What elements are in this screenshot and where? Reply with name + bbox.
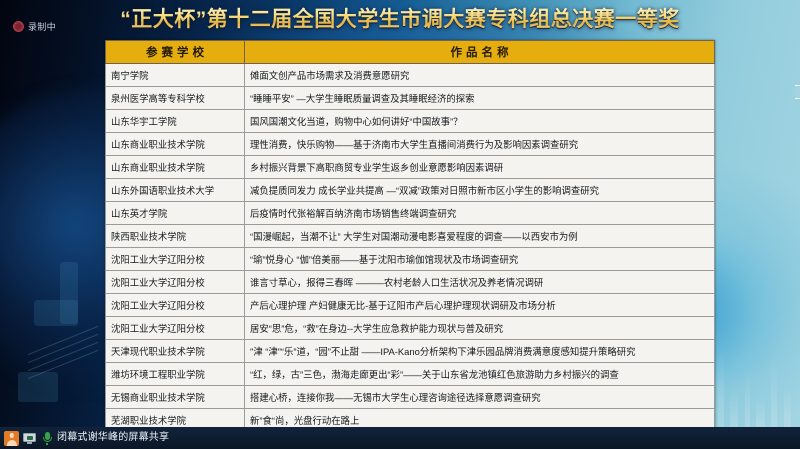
cell-school: 泉州医学高等专科学校 [106,87,245,110]
table-row: 泉州医学高等专科学校“睡睡平安” —大学生睡眠质量调查及其睡眠经济的探索 [106,87,715,110]
table-row: 沈阳工业大学辽阳分校居安“思”危，“救”在身边--大学生应急救护能力现状与普及研… [106,317,715,340]
cell-school: 山东外国语职业技术大学 [106,179,245,202]
column-header-work: 作品名称 [245,41,715,64]
cell-work: 搭建心桥，连接你我——无锡市大学生心理咨询途径选择意愿调查研究 [245,386,715,409]
recording-label: 录制中 [28,22,56,32]
cell-work: “睡睡平安” —大学生睡眠质量调查及其睡眠经济的探索 [245,87,715,110]
cell-work: “瑜”悦身心 “伽”倍美丽——基于沈阳市瑜伽馆现状及市场调查研究 [245,248,715,271]
cell-work: 傩面文创产品市场需求及消费意愿研究 [245,64,715,87]
cell-school: 无锡商业职业技术学院 [106,386,245,409]
microphone-icon[interactable] [41,431,53,445]
table-row: 沈阳工业大学辽阳分校谁言寸草心，报得三春晖 ———农村老龄人口生活状况及养老情况… [106,271,715,294]
table-row: 山东英才学院后疫情时代张裕解百纳济南市场销售终端调查研究 [106,202,715,225]
cell-school: 山东商业职业技术学院 [106,156,245,179]
cell-school: 沈阳工业大学辽阳分校 [106,317,245,340]
table-header: 参赛学校 作品名称 [106,41,715,64]
table-row: 无锡商业职业技术学院搭建心桥，连接你我——无锡市大学生心理咨询途径选择意愿调查研… [106,386,715,409]
table-row: 潍坊环境工程职业学院“红，绿，古”三色，渤海走廊更出“彩”——关于山东省龙池镇红… [106,363,715,386]
table-row: 天津现代职业技术学院"津 “津”“乐”道，“园”不止甜 ——IPA-Kano分析… [106,340,715,363]
award-table: 参赛学校 作品名称 南宁学院傩面文创产品市场需求及消费意愿研究泉州医学高等专科学… [105,40,715,432]
cell-work: "津 “津”“乐”道，“园”不止甜 ——IPA-Kano分析架构下津乐园品牌消费… [245,340,715,363]
cell-work: 后疫情时代张裕解百纳济南市场销售终端调查研究 [245,202,715,225]
table-row: 山东外国语职业技术大学减负提质同发力 成长学业共提高 —“双减”政策对日照市新市… [106,179,715,202]
record-dot-icon [13,21,24,32]
cell-school: 山东华宇工学院 [106,110,245,133]
table-row: 南宁学院傩面文创产品市场需求及消费意愿研究 [106,64,715,87]
cell-work: 谁言寸草心，报得三春晖 ———农村老龄人口生活状况及养老情况调研 [245,271,715,294]
screen-share-stage: 录制中 “正大杯”第十二届全国大学生市调大赛专科组总决赛一等奖 参赛学校 作品名… [0,0,800,449]
cell-school: 山东英才学院 [106,202,245,225]
cell-work: 理性消费，快乐购物——基于济南市大学生直播间消费行为及影响因素调查研究 [245,133,715,156]
cell-work: 产后心理护理 产妇健康无比-基于辽阳市产后心理护理现状调研及市场分析 [245,294,715,317]
cell-school: 天津现代职业技术学院 [106,340,245,363]
cell-school: 山东商业职业技术学院 [106,133,245,156]
cell-school: 沈阳工业大学辽阳分校 [106,271,245,294]
avatar-icon [4,431,19,446]
cell-school: 潍坊环境工程职业学院 [106,363,245,386]
cell-work: 居安“思”危，“救”在身边--大学生应急救护能力现状与普及研究 [245,317,715,340]
screen-share-icon[interactable] [23,432,37,445]
table-row: 山东华宇工学院国风国潮文化当道，购物中心如何讲好“中国故事”？ [106,110,715,133]
cell-school: 陕西职业技术学院 [106,225,245,248]
background-chevrons [28,334,98,389]
cell-work: 减负提质同发力 成长学业共提高 —“双减”政策对日照市新市区小学生的影响调查研究 [245,179,715,202]
table-body: 南宁学院傩面文创产品市场需求及消费意愿研究泉州医学高等专科学校“睡睡平安” —大… [106,64,715,432]
table-header-row: 参赛学校 作品名称 [106,41,715,64]
table-row: 山东商业职业技术学院理性消费，快乐购物——基于济南市大学生直播间消费行为及影响因… [106,133,715,156]
cell-school: 南宁学院 [106,64,245,87]
cell-school: 沈阳工业大学辽阳分校 [106,248,245,271]
cell-school: 沈阳工业大学辽阳分校 [106,294,245,317]
table-row: 陕西职业技术学院“国漫崛起，当潮不让” 大学生对国潮动漫电影喜爱程度的调查——以… [106,225,715,248]
cursor-artifact [795,85,800,99]
cell-work: 乡村振兴背景下高职商贸专业学生返乡创业意愿影响因素调研 [245,156,715,179]
share-status-label: 闭幕式谢华峰的屏幕共享 [57,432,169,444]
cell-work: 国风国潮文化当道，购物中心如何讲好“中国故事”？ [245,110,715,133]
cell-work: “红，绿，古”三色，渤海走廊更出“彩”——关于山东省龙池镇红色旅游助力乡村振兴的… [245,363,715,386]
cell-work: “国漫崛起，当潮不让” 大学生对国潮动漫电影喜爱程度的调查——以西安市为例 [245,225,715,248]
background-shape-b [60,262,78,324]
page-title: “正大杯”第十二届全国大学生市调大赛专科组总决赛一等奖 [0,7,800,33]
column-header-school: 参赛学校 [106,41,245,64]
table-row: 山东商业职业技术学院乡村振兴背景下高职商贸专业学生返乡创业意愿影响因素调研 [106,156,715,179]
recording-indicator: 录制中 [13,21,56,32]
table-row: 沈阳工业大学辽阳分校“瑜”悦身心 “伽”倍美丽——基于沈阳市瑜伽馆现状及市场调查… [106,248,715,271]
table-row: 沈阳工业大学辽阳分校产后心理护理 产妇健康无比-基于辽阳市产后心理护理现状调研及… [106,294,715,317]
screen-share-bar: 闭幕式谢华峰的屏幕共享 [0,427,800,449]
